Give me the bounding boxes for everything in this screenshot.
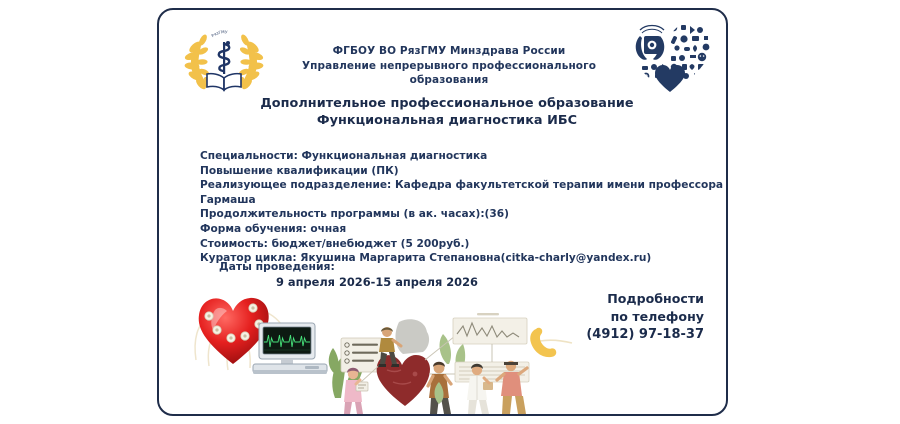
- detail-study-form: Форма обучения: очная: [200, 222, 700, 237]
- announcement-card: РязГМУ: [157, 8, 728, 416]
- dates-label: Даты проведения:: [219, 259, 639, 274]
- title-line-2: Функциональная диагностика ИБС: [197, 112, 697, 129]
- course-details-list: Специальности: Функциональная диагностик…: [200, 149, 700, 266]
- detail-department: Реализующее подразделение: Кафедра факул…: [200, 178, 700, 193]
- contact-line-1: Подробности: [544, 290, 704, 308]
- detail-specialty: Специальности: Функциональная диагностик…: [200, 149, 700, 164]
- dates-value: 9 апреля 2026-15 апреля 2026: [276, 274, 639, 290]
- poster-page: РязГМУ: [0, 0, 900, 424]
- page-title: Дополнительное профессиональное образова…: [197, 95, 697, 129]
- medical-icons-heart-logo: [622, 14, 718, 98]
- org-line-2: Управление непрерывного профессиональног…: [279, 59, 619, 74]
- ecg-monitor-computer-illustration: [247, 320, 333, 382]
- svg-text:РязГМУ: РязГМУ: [210, 29, 228, 38]
- detail-hours: Продолжительность программы (в ак. часах…: [200, 207, 700, 222]
- ryazan-medical-university-emblem: РязГМУ: [181, 20, 267, 100]
- title-line-1: Дополнительное профессиональное образова…: [197, 95, 697, 112]
- org-line-3: образования: [279, 73, 619, 88]
- cardiology-team-scene-illustration: [327, 312, 543, 416]
- organization-block: ФГБОУ ВО РязГМУ Минздрава России Управле…: [279, 44, 619, 88]
- detail-cost: Стоимость: бюджет/внебюджет (5 200руб.): [200, 237, 700, 252]
- detail-department-cont: Гармаша: [200, 193, 700, 208]
- org-line-1: ФГБОУ ВО РязГМУ Минздрава России: [279, 44, 619, 59]
- detail-program-type: Повышение квалификации (ПК): [200, 164, 700, 179]
